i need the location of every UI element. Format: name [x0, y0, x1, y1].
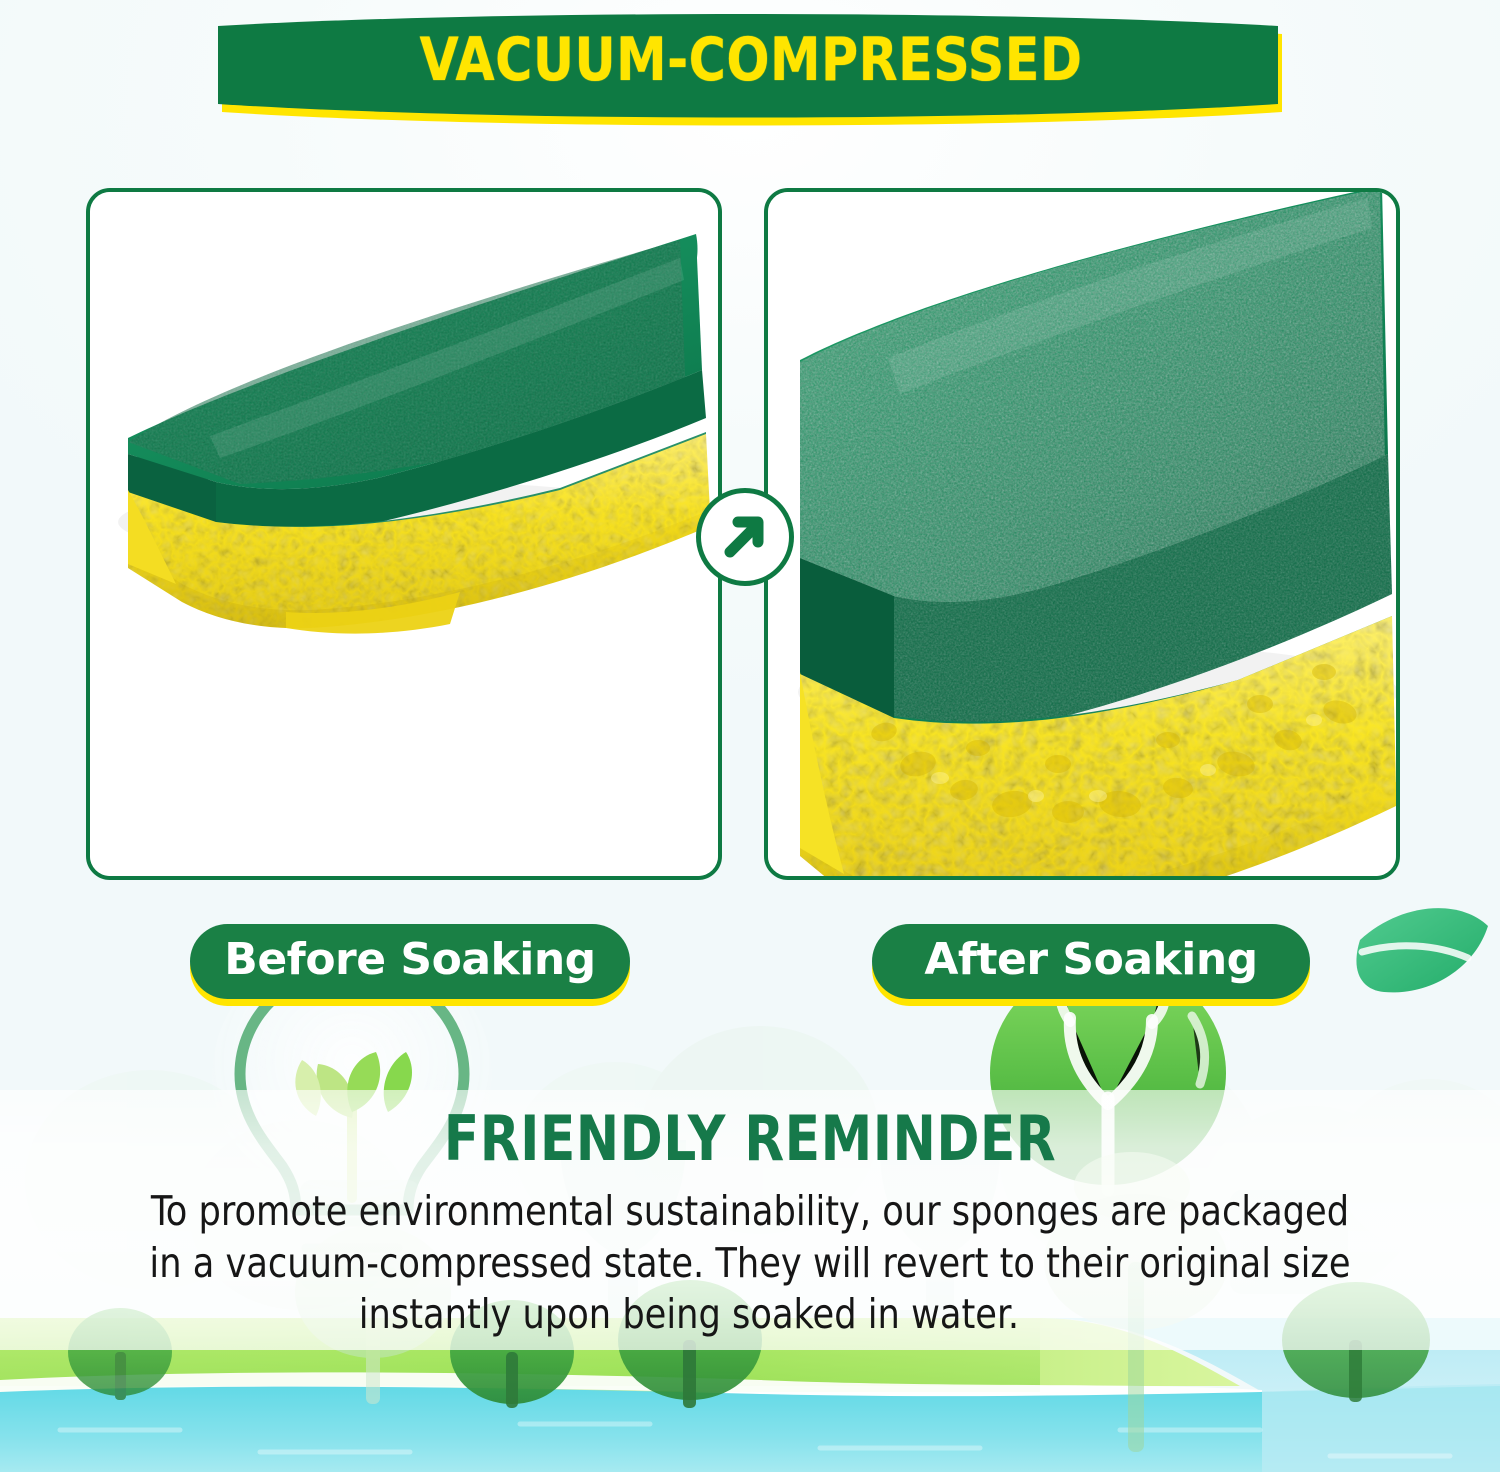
pill-after: After Soaking	[872, 924, 1310, 999]
reminder-title: FRIENDLY REMINDER	[53, 1108, 1448, 1170]
transition-arrow-badge	[696, 488, 794, 586]
panel-before-image-frame	[90, 192, 718, 876]
banner-title: VACUUM-COMPRESSED	[229, 8, 1272, 112]
reminder-line-1: To promote environmental sustainability,…	[139, 1186, 1361, 1238]
reminder-section: FRIENDLY REMINDER To promote environment…	[0, 1108, 1500, 1341]
reminder-body: To promote environmental sustainability,…	[34, 1186, 1467, 1341]
sponge-expanded-illustration	[768, 192, 1396, 876]
reminder-line-2: in a vacuum-compressed state. They will …	[139, 1238, 1361, 1290]
caption-before-soaking: Before Soaking	[190, 924, 630, 1006]
reminder-line-3: instantly upon being soaked in water.	[139, 1289, 1361, 1341]
sponge-compressed-illustration	[90, 192, 718, 876]
infographic-canvas: VACUUM-COMPRESSED	[0, 0, 1500, 1472]
header-banner: VACUUM-COMPRESSED	[196, 8, 1306, 130]
panel-after-image-frame	[768, 192, 1396, 876]
caption-after-label: After Soaking	[924, 938, 1257, 985]
caption-before-label: Before Soaking	[224, 938, 595, 985]
arrow-up-right-icon	[716, 508, 774, 566]
caption-after-soaking: After Soaking	[872, 924, 1310, 1006]
pill-before: Before Soaking	[190, 924, 630, 999]
panel-before-soaking	[86, 188, 722, 880]
panel-after-soaking	[764, 188, 1400, 880]
leaf-icon	[1356, 908, 1488, 992]
